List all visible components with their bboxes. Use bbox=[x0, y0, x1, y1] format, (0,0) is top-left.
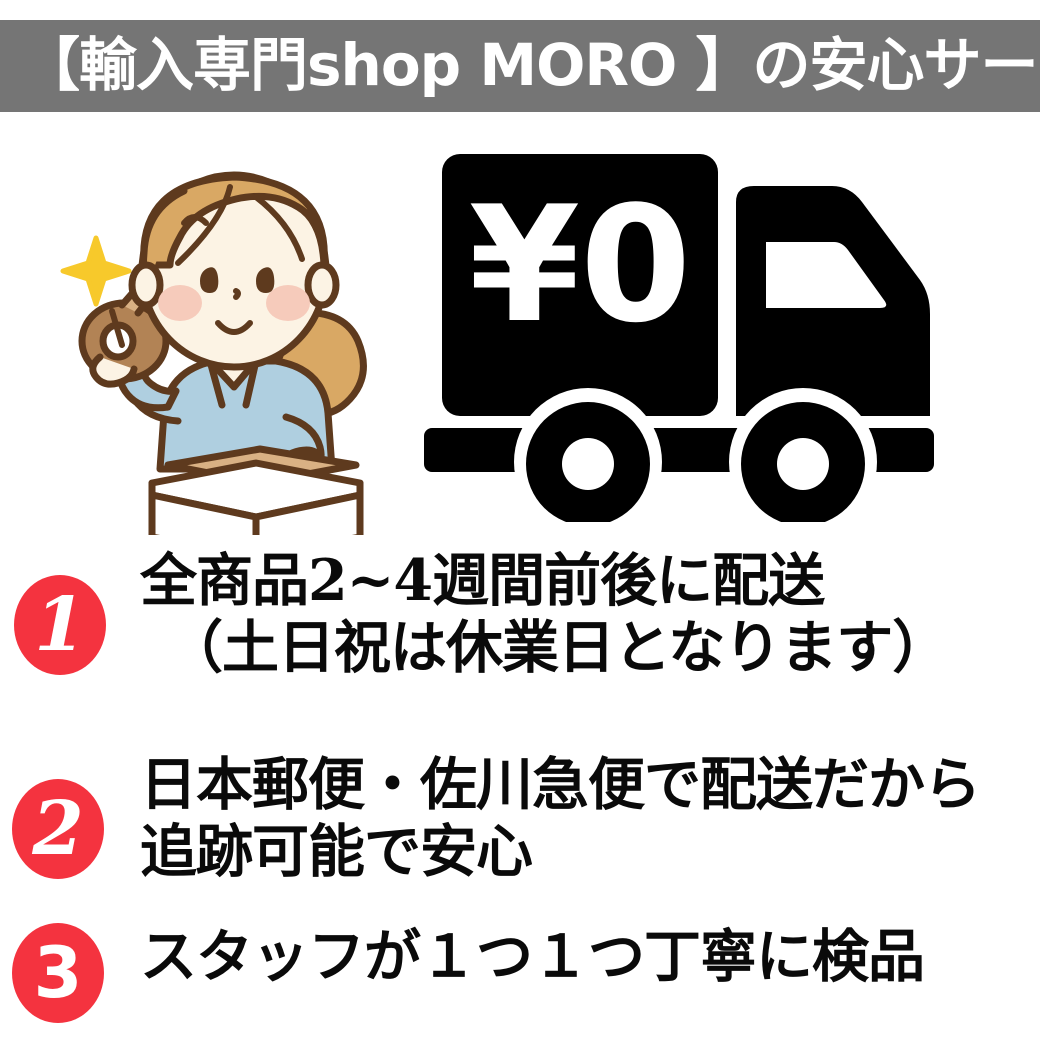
service-list: 1 全商品2~4週間前後に配送 （土日祝は休業日となります） 2 日本郵便・佐川… bbox=[0, 545, 1040, 1040]
service-text-2-line-1: 日本郵便・佐川急便で配送だから bbox=[140, 751, 980, 818]
illustration-band: ¥0 bbox=[0, 120, 1040, 540]
infographic-page: 【輸入専門shop MORO 】の安心サービス bbox=[0, 0, 1040, 1040]
delivery-truck-illustration: ¥0 bbox=[418, 142, 1018, 522]
service-text-2-line-2: 追跡可能で安心 bbox=[140, 818, 980, 885]
service-text-1-line-2: （土日祝は休業日となります） bbox=[140, 614, 948, 681]
woman-packing-box-illustration bbox=[60, 145, 390, 535]
service-text-2: 日本郵便・佐川急便で配送だから 追跡可能で安心 bbox=[140, 751, 980, 886]
service-number-badge-2: 2 bbox=[12, 779, 104, 879]
service-number-badge-3: 3 bbox=[12, 923, 104, 1023]
truck-price-label: ¥0 bbox=[469, 171, 692, 358]
service-text-3-line-1: スタッフが１つ１つ丁寧に検品 bbox=[140, 923, 924, 990]
service-text-3: スタッフが１つ１つ丁寧に検品 bbox=[140, 923, 924, 990]
header-banner: 【輸入専門shop MORO 】の安心サービス bbox=[0, 20, 1040, 112]
sparkle-icon bbox=[63, 238, 129, 304]
service-number-badge-1: 1 bbox=[14, 575, 106, 675]
page-title: 【輸入専門shop MORO 】の安心サービス bbox=[0, 36, 1040, 94]
service-text-1-line-1: 全商品2~4週間前後に配送 bbox=[140, 547, 948, 614]
service-text-1: 全商品2~4週間前後に配送 （土日祝は休業日となります） bbox=[140, 547, 948, 682]
